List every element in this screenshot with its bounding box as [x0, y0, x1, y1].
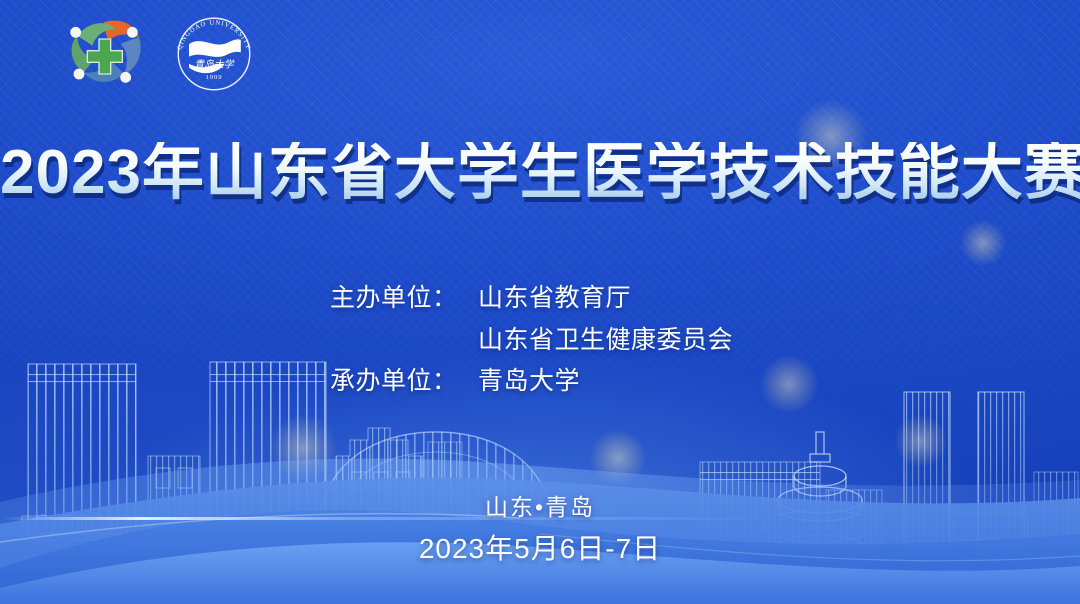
- organizer-label: 主办单位：: [330, 278, 478, 320]
- organizer-value: 山东省教育厅: [478, 278, 750, 320]
- logo-group: 医学技能大赛会徽 QINGDAO UNIVERSITY 青岛大学 1: [62, 12, 260, 96]
- event-location: 山东•青岛: [0, 488, 1080, 522]
- organizer-row: 山东省卫生健康委员会: [0, 320, 1080, 362]
- emblem-year: 1909: [206, 74, 223, 81]
- organizer-row: 承办单位： 青岛大学: [0, 361, 1080, 403]
- organizer-row: 主办单位： 山东省教育厅: [0, 278, 1080, 320]
- poster-banner: 医学技能大赛会徽 QINGDAO UNIVERSITY 青岛大学 1: [0, 0, 1080, 604]
- organizer-value: 山东省卫生健康委员会: [478, 320, 750, 362]
- organizer-label: 承办单位：: [330, 361, 478, 403]
- emblem-chinese-name: 青岛大学: [194, 58, 234, 70]
- organizer-value: 青岛大学: [478, 361, 750, 403]
- organizer-label: [330, 320, 478, 362]
- event-date: 2023年5月6日-7日: [0, 527, 1080, 567]
- qingdao-university-emblem: QINGDAO UNIVERSITY 青岛大学 1909: [168, 12, 260, 96]
- page-title: 2023年山东省大学生医学技术技能大赛: [0, 142, 1080, 204]
- organizer-block: 主办单位： 山东省教育厅 山东省卫生健康委员会 承办单位： 青岛大学: [0, 278, 1080, 403]
- medical-cross-logo: 医学技能大赛会徽: [62, 14, 146, 94]
